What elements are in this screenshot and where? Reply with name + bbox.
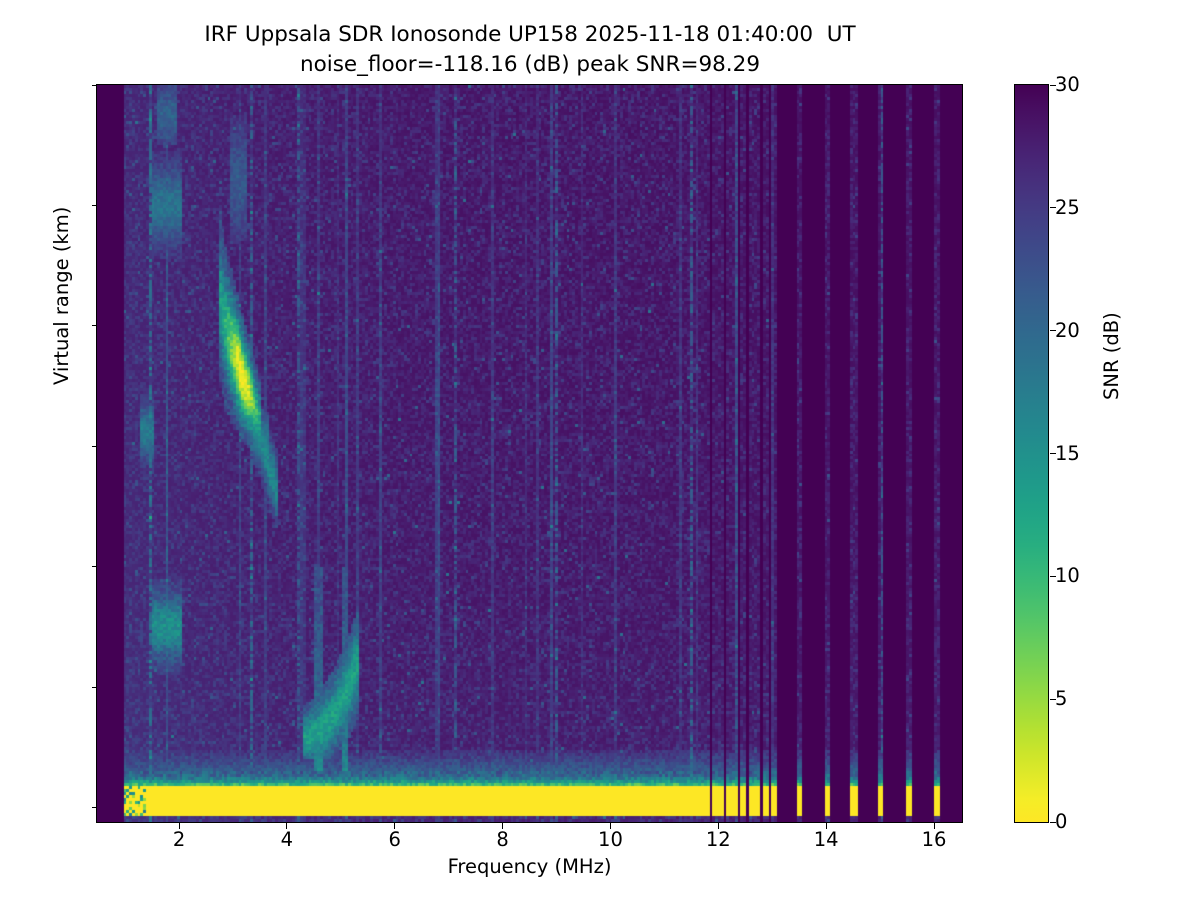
y-axis-tick-mark: [92, 687, 98, 688]
x-axis-tick-label: 12: [658, 828, 778, 851]
x-axis-tick-label: 16: [874, 828, 994, 851]
ionogram-plot-area: 0100200300400500600 Virtual range (km): [96, 84, 963, 823]
colorbar-gradient: [1015, 85, 1048, 822]
x-axis-tick-label: 4: [227, 828, 347, 851]
x-axis-tick-label: 14: [766, 828, 886, 851]
colorbar-tick-label: 20: [1055, 321, 1080, 341]
x-axis-tick-label: 8: [443, 828, 563, 851]
y-axis-label: Virtual range (km): [50, 207, 73, 385]
y-axis-tick-mark: [92, 325, 98, 326]
figure-title-line-1: IRF Uppsala SDR Ionosonde UP158 2025-11-…: [0, 20, 1060, 50]
colorbar-tick-label: 0: [1055, 812, 1067, 832]
colorbar-tick-label: 5: [1055, 689, 1067, 709]
x-axis-tick-label: 10: [550, 828, 670, 851]
x-axis-tick-label: 2: [119, 828, 239, 851]
y-axis-tick-mark: [92, 446, 98, 447]
ionogram-figure: IRF Uppsala SDR Ionosonde UP158 2025-11-…: [0, 0, 1200, 900]
y-axis-tick-mark: [92, 807, 98, 808]
colorbar-tick-label: 10: [1055, 566, 1080, 586]
colorbar-tick-label: 30: [1055, 75, 1080, 95]
x-axis-tick-label: 6: [335, 828, 455, 851]
colorbar-tick-label: 25: [1055, 198, 1080, 218]
x-axis-label: Frequency (MHz): [96, 855, 963, 878]
colorbar-tick-label: 15: [1055, 444, 1080, 464]
y-axis-tick-mark: [92, 205, 98, 206]
figure-title-line-2: noise_floor=-118.16 (dB) peak SNR=98.29: [0, 50, 1060, 80]
colorbar-label: SNR (dB): [1100, 312, 1123, 400]
ionogram-heatmap-canvas: [97, 85, 962, 822]
y-axis-tick-mark: [92, 85, 98, 86]
colorbar: 051015202530: [1014, 84, 1049, 823]
y-axis-tick-mark: [92, 566, 98, 567]
